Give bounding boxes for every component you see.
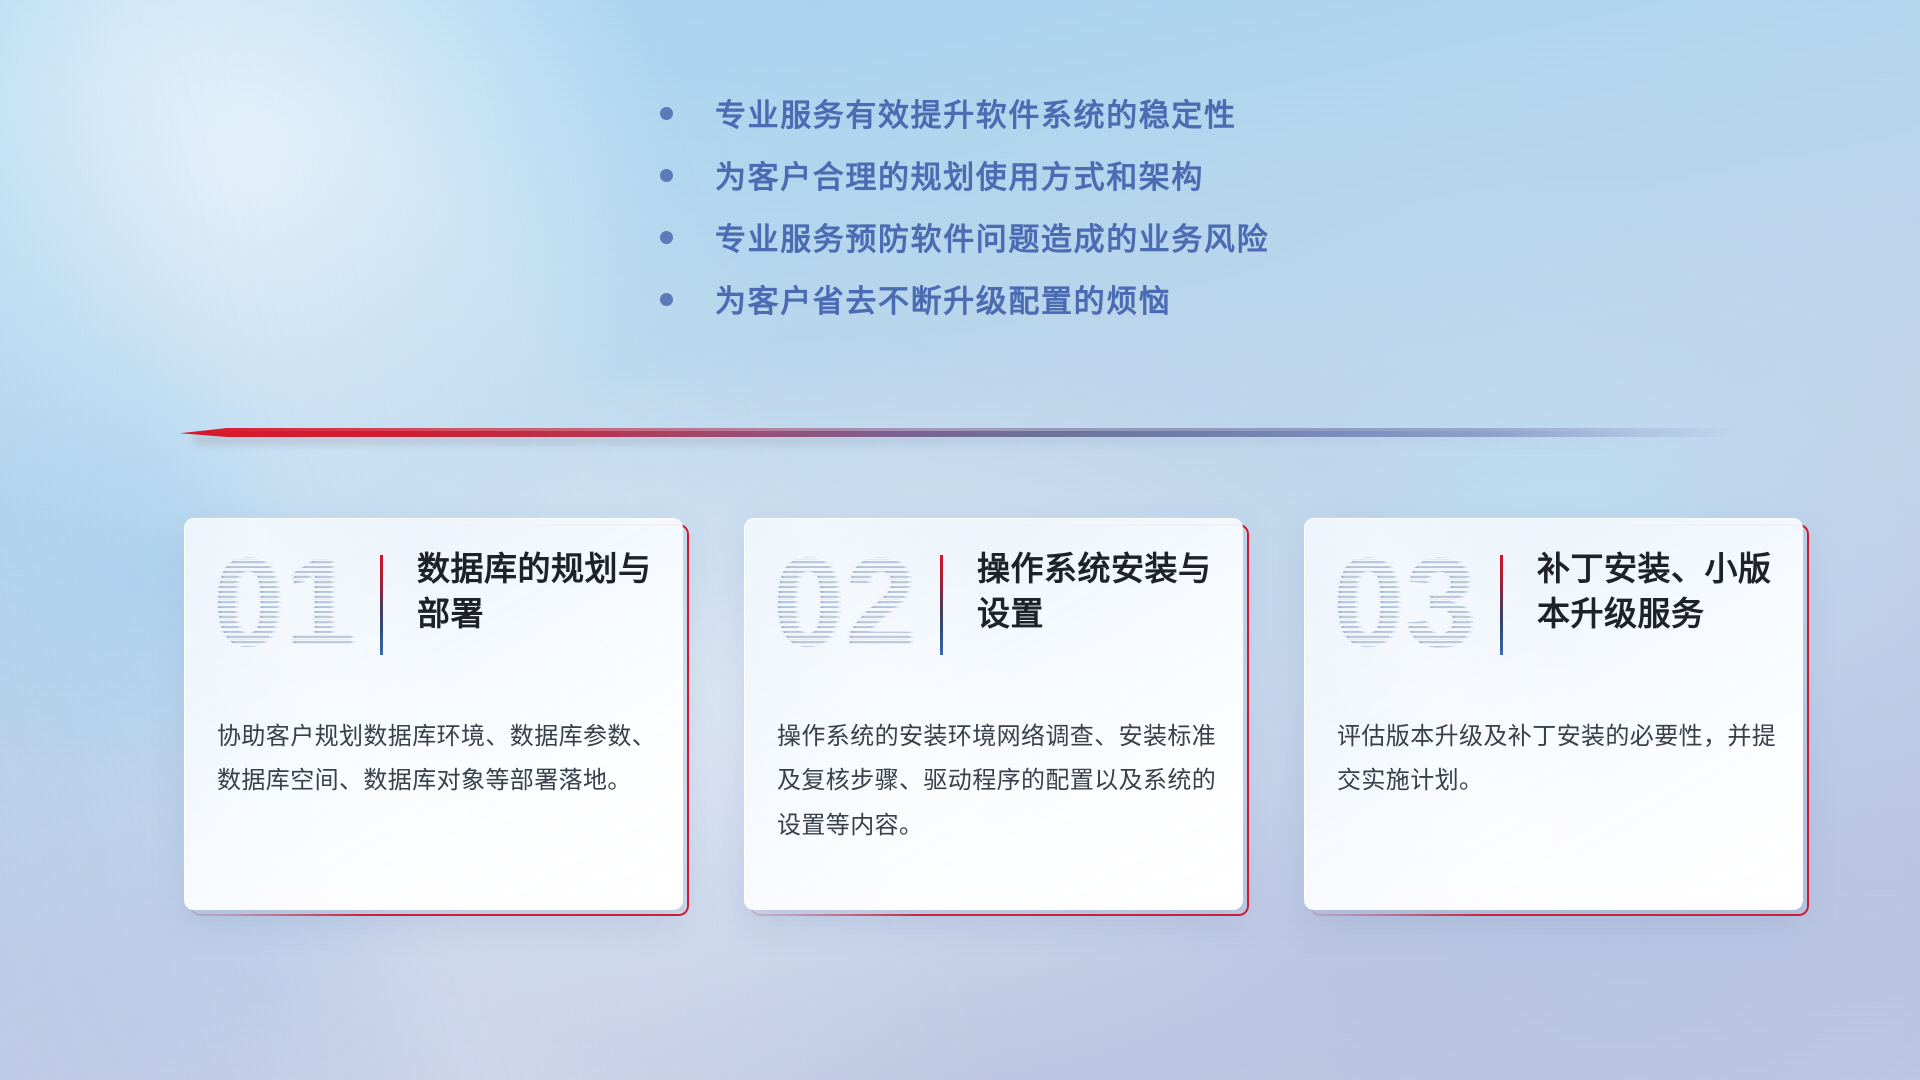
- card-description: 评估版本升级及补丁安装的必要性，并提交实施计划。: [1337, 715, 1782, 804]
- section-divider: [180, 424, 1740, 446]
- card-header: 01 01 数据库的规划与部署: [185, 519, 683, 689]
- card-accent-bar: [380, 555, 383, 655]
- card-title: 数据库的规划与部署: [417, 547, 667, 637]
- bullet-item: 为客户省去不断升级配置的烦恼: [660, 286, 1760, 338]
- bullet-item-label: 专业服务有效提升软件系统的稳定性: [715, 100, 1237, 131]
- card-description: 协助客户规划数据库环境、数据库参数、数据库空间、数据库对象等部署落地。: [217, 715, 662, 804]
- service-card[interactable]: 02 02 操作系统安装与设置 操作系统的安装环境网络调查、安装标准及复核步骤、…: [744, 518, 1243, 910]
- bullet-dot-icon: [660, 293, 673, 306]
- divider-highlight: [180, 428, 1740, 431]
- service-card[interactable]: 03 03 补丁安装、小版本升级服务 评估版本升级及补丁安装的必要性，并提交实施…: [1304, 518, 1803, 910]
- service-card[interactable]: 01 01 数据库的规划与部署 协助客户规划数据库环境、数据库参数、数据库空间、…: [184, 518, 683, 910]
- bullet-item-label: 为客户省去不断升级配置的烦恼: [715, 286, 1171, 317]
- bullet-dot-icon: [660, 231, 673, 244]
- card-accent-bar: [1500, 555, 1503, 655]
- card-body: 01 01 数据库的规划与部署 协助客户规划数据库环境、数据库参数、数据库空间、…: [184, 518, 683, 910]
- card-title: 操作系统安装与设置: [977, 547, 1227, 637]
- divider-shadow: [194, 437, 1692, 444]
- bullet-dot-icon: [660, 169, 673, 182]
- service-card-list: 01 01 数据库的规划与部署 协助客户规划数据库环境、数据库参数、数据库空间、…: [184, 518, 1804, 918]
- card-number-watermark: 01: [213, 523, 413, 683]
- card-header: 03 03 补丁安装、小版本升级服务: [1305, 519, 1803, 689]
- card-body: 03 03 补丁安装、小版本升级服务 评估版本升级及补丁安装的必要性，并提交实施…: [1304, 518, 1803, 910]
- bullet-item-label: 为客户合理的规划使用方式和架构: [715, 162, 1204, 193]
- bullet-dot-icon: [660, 107, 673, 120]
- card-header: 02 02 操作系统安装与设置: [745, 519, 1243, 689]
- card-number-watermark: 03: [1333, 523, 1533, 683]
- bullet-item: 为客户合理的规划使用方式和架构: [660, 162, 1760, 214]
- bullet-item: 专业服务预防软件问题造成的业务风险: [660, 224, 1760, 276]
- bullet-item: 专业服务有效提升软件系统的稳定性: [660, 100, 1760, 152]
- card-title: 补丁安装、小版本升级服务: [1537, 547, 1787, 637]
- benefits-bullet-list: 专业服务有效提升软件系统的稳定性 为客户合理的规划使用方式和架构 专业服务预防软…: [660, 100, 1760, 348]
- card-number-watermark: 02: [773, 523, 973, 683]
- slide-canvas: 专业服务有效提升软件系统的稳定性 为客户合理的规划使用方式和架构 专业服务预防软…: [0, 0, 1920, 1080]
- bullet-item-label: 专业服务预防软件问题造成的业务风险: [715, 224, 1269, 255]
- card-body: 02 02 操作系统安装与设置 操作系统的安装环境网络调查、安装标准及复核步骤、…: [744, 518, 1243, 910]
- card-accent-bar: [940, 555, 943, 655]
- card-description: 操作系统的安装环境网络调查、安装标准及复核步骤、驱动程序的配置以及系统的设置等内…: [777, 715, 1222, 848]
